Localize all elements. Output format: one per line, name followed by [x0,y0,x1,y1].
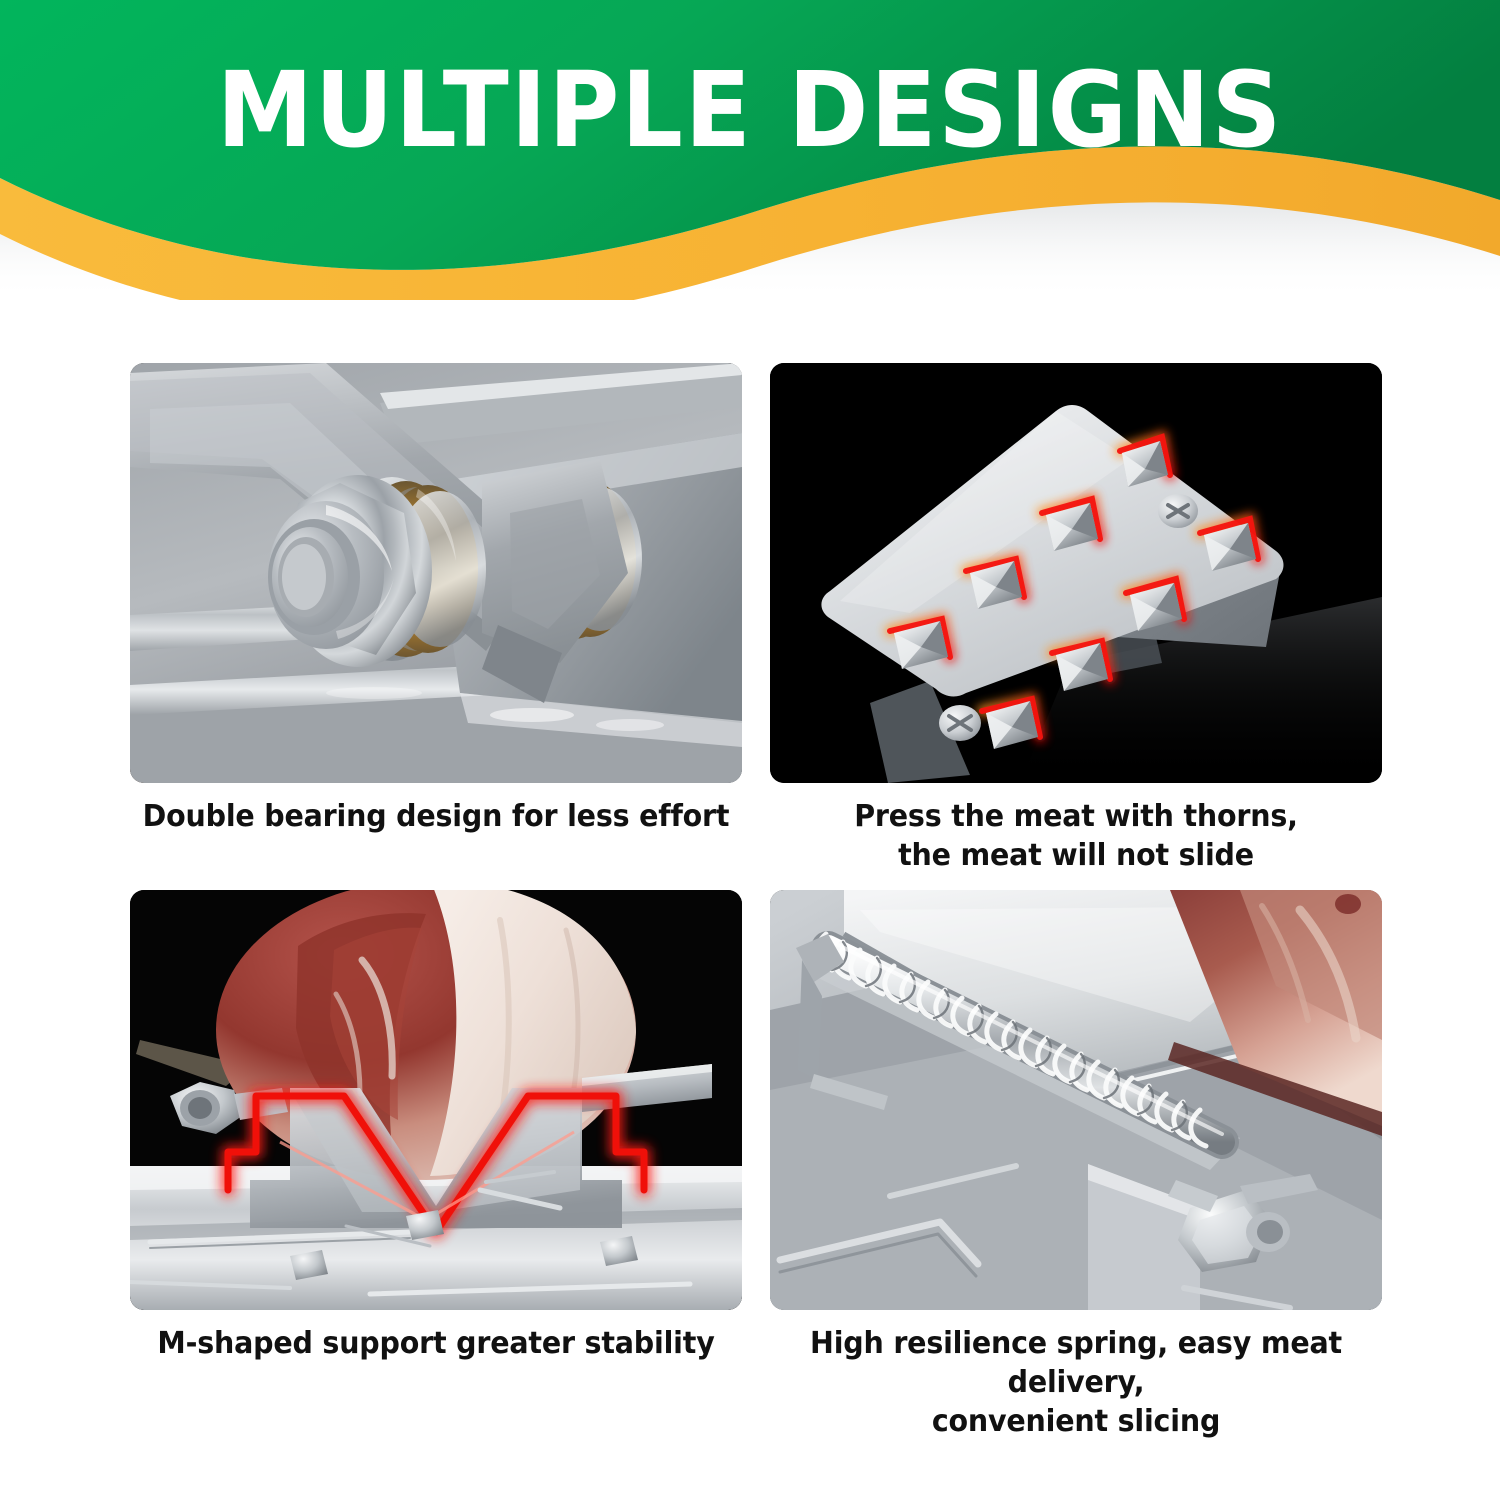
caption-line: Double bearing design for less effort [126,797,745,836]
double-bearing-closeup-photo [130,363,742,783]
feature-card-double-bearing: Double bearing design for less effort [130,363,742,783]
feature-card-grid: Double bearing design for less effort [130,363,1382,1433]
page-title: MULTIPLE DESIGNS [53,58,1448,162]
phillips-screw-top [1158,494,1198,528]
thorn-press-plate-photo [770,363,1382,783]
caption-line: convenient slicing [766,1402,1385,1441]
resilience-spring-photo [770,890,1382,1310]
infographic-page: MULTIPLE DESIGNS [0,0,1500,1500]
phillips-screw-bottom [939,705,981,741]
caption-line: the meat will not slide [766,836,1385,875]
caption-line: High resilience spring, easy meat delive… [766,1324,1385,1402]
feature-caption-double-bearing: Double bearing design for less effort [126,797,745,836]
feature-card-m-shaped-support: M-shaped support greater stability [130,890,742,1310]
caption-line: M-shaped support greater stability [126,1324,745,1363]
feature-card-resilience-spring: High resilience spring, easy meat delive… [770,890,1382,1310]
caption-line: Press the meat with thorns, [766,797,1385,836]
header-banner: MULTIPLE DESIGNS [0,0,1500,300]
feature-caption-m-shaped-support: M-shaped support greater stability [126,1324,745,1363]
m-shaped-support-photo [130,890,742,1310]
feature-caption-thorn-press: Press the meat with thorns, the meat wil… [766,797,1385,875]
feature-card-thorn-press: Press the meat with thorns, the meat wil… [770,363,1382,783]
feature-caption-resilience-spring: High resilience spring, easy meat delive… [766,1324,1385,1441]
